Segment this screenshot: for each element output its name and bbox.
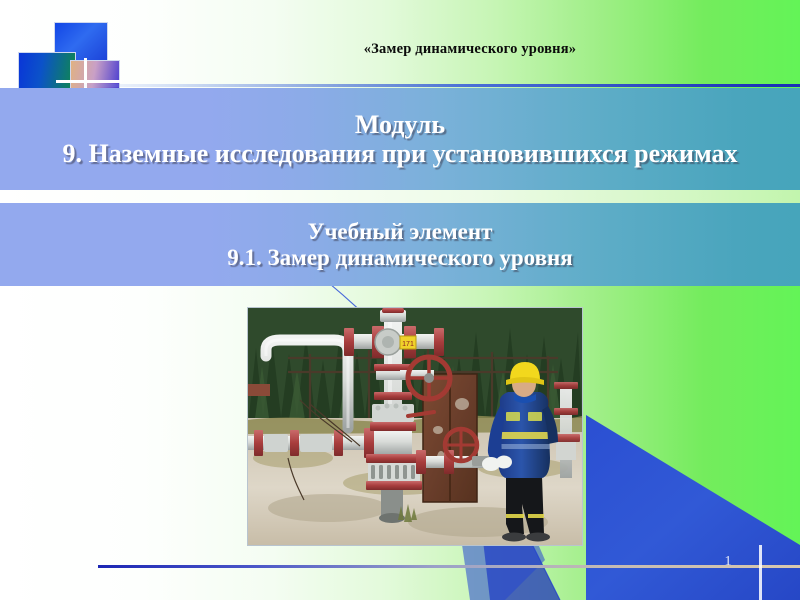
- header-caption: «Замер динамического уровня»: [0, 41, 800, 58]
- element-label: Учебный элемент: [22, 219, 778, 245]
- logo-cross-horizontal: [56, 80, 122, 83]
- band-separator: [0, 190, 800, 203]
- module-title-text: Модуль 9. Наземные исследования при уста…: [0, 110, 800, 168]
- header-divider-rule: [70, 84, 800, 87]
- element-title-band: Учебный элемент 9.1. Замер динамического…: [0, 203, 800, 286]
- svg-text:171: 171: [402, 341, 414, 348]
- wellhead-photo: 171: [247, 307, 583, 546]
- element-title-text: Учебный элемент 9.1. Замер динамического…: [0, 219, 800, 271]
- footer-rule-vertical: [759, 545, 762, 600]
- module-number-title: 9. Наземные исследования при установивши…: [22, 139, 778, 168]
- page-number: 1: [718, 554, 738, 570]
- footer-rule-horizontal: [98, 565, 800, 568]
- module-title-band: Модуль 9. Наземные исследования при уста…: [0, 88, 800, 190]
- presentation-slide: «Замер динамического уровня» Модуль 9. Н…: [0, 0, 800, 600]
- element-number-title: 9.1. Замер динамического уровня: [22, 245, 778, 271]
- module-label: Модуль: [22, 110, 778, 139]
